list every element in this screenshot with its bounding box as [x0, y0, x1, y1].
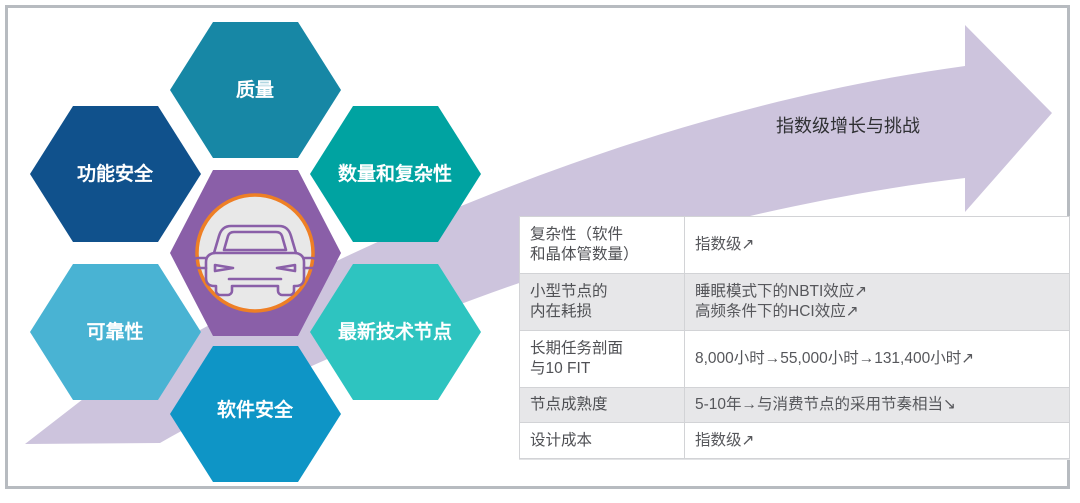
value-line: 高频条件下的HCI效应↗: [695, 302, 1059, 322]
hexagon-label-quality: 质量: [236, 79, 274, 101]
key-line: 节点成熟度: [530, 395, 674, 415]
key-line: 复杂性（软件: [530, 225, 674, 245]
table-cell-key: 长期任务剖面 与10 FIT: [520, 330, 685, 387]
value-line: 指数级↗: [695, 431, 1059, 451]
table-row: 复杂性（软件 和晶体管数量） 指数级↗: [520, 217, 1070, 274]
hexagon-label-latest-node: 最新技术节点: [338, 320, 452, 343]
table-cell-value: 5-10年→与消费节点的采用节奏相当↘: [685, 387, 1070, 423]
table-cell-key: 小型节点的 内在耗损: [520, 273, 685, 330]
hexagon-functional-safety[interactable]: 功能安全: [30, 106, 201, 242]
table-underline-rule: [519, 459, 1070, 460]
value-line: 指数级↗: [695, 235, 1059, 255]
table-cell-value: 指数级↗: [685, 217, 1070, 274]
value-line: 睡眠模式下的NBTI效应↗: [695, 282, 1059, 302]
table-cell-value: 指数级↗: [685, 423, 1070, 459]
key-line: 长期任务剖面: [530, 339, 674, 359]
screenshot-frame: 功能安全 质量 数量和复杂性 最新技术节点 软件安全 可靠性: [0, 0, 1080, 503]
hexagon-quality[interactable]: 质量: [170, 22, 341, 158]
hexagon-label-volume-complexity: 数量和复杂性: [338, 162, 452, 185]
key-line: 小型节点的: [530, 282, 674, 302]
value-line: 8,000小时→55,000小时→131,400小时↗: [695, 349, 1059, 369]
table-row: 设计成本 指数级↗: [520, 423, 1070, 459]
table-cell-key: 节点成熟度: [520, 387, 685, 423]
table-row: 长期任务剖面 与10 FIT 8,000小时→55,000小时→131,400小…: [520, 330, 1070, 387]
hexagon-label-software-safety: 软件安全: [217, 398, 294, 421]
table-cell-key: 设计成本: [520, 423, 685, 459]
table-row: 节点成熟度 5-10年→与消费节点的采用节奏相当↘: [520, 387, 1070, 423]
key-line: 和晶体管数量）: [530, 245, 674, 265]
challenges-table: 复杂性（软件 和晶体管数量） 指数级↗ 小型节点的 内在耗损 睡眠模式下的NBT…: [519, 216, 1070, 459]
challenges-table-body: 复杂性（软件 和晶体管数量） 指数级↗ 小型节点的 内在耗损 睡眠模式下的NBT…: [520, 217, 1070, 459]
key-line: 内在耗损: [530, 302, 674, 322]
hexagon-label-functional-safety: 功能安全: [77, 162, 154, 185]
table-cell-key: 复杂性（软件 和晶体管数量）: [520, 217, 685, 274]
table-row: 小型节点的 内在耗损 睡眠模式下的NBTI效应↗ 高频条件下的HCI效应↗: [520, 273, 1070, 330]
key-line: 设计成本: [530, 431, 674, 451]
table-cell-value: 睡眠模式下的NBTI效应↗ 高频条件下的HCI效应↗: [685, 273, 1070, 330]
table-cell-value: 8,000小时→55,000小时→131,400小时↗: [685, 330, 1070, 387]
growth-arrow-label: 指数级增长与挑战: [776, 116, 920, 136]
hexagon-label-reliability: 可靠性: [86, 320, 143, 343]
key-line: 与10 FIT: [530, 359, 674, 379]
value-line: 5-10年→与消费节点的采用节奏相当↘: [695, 395, 1059, 415]
